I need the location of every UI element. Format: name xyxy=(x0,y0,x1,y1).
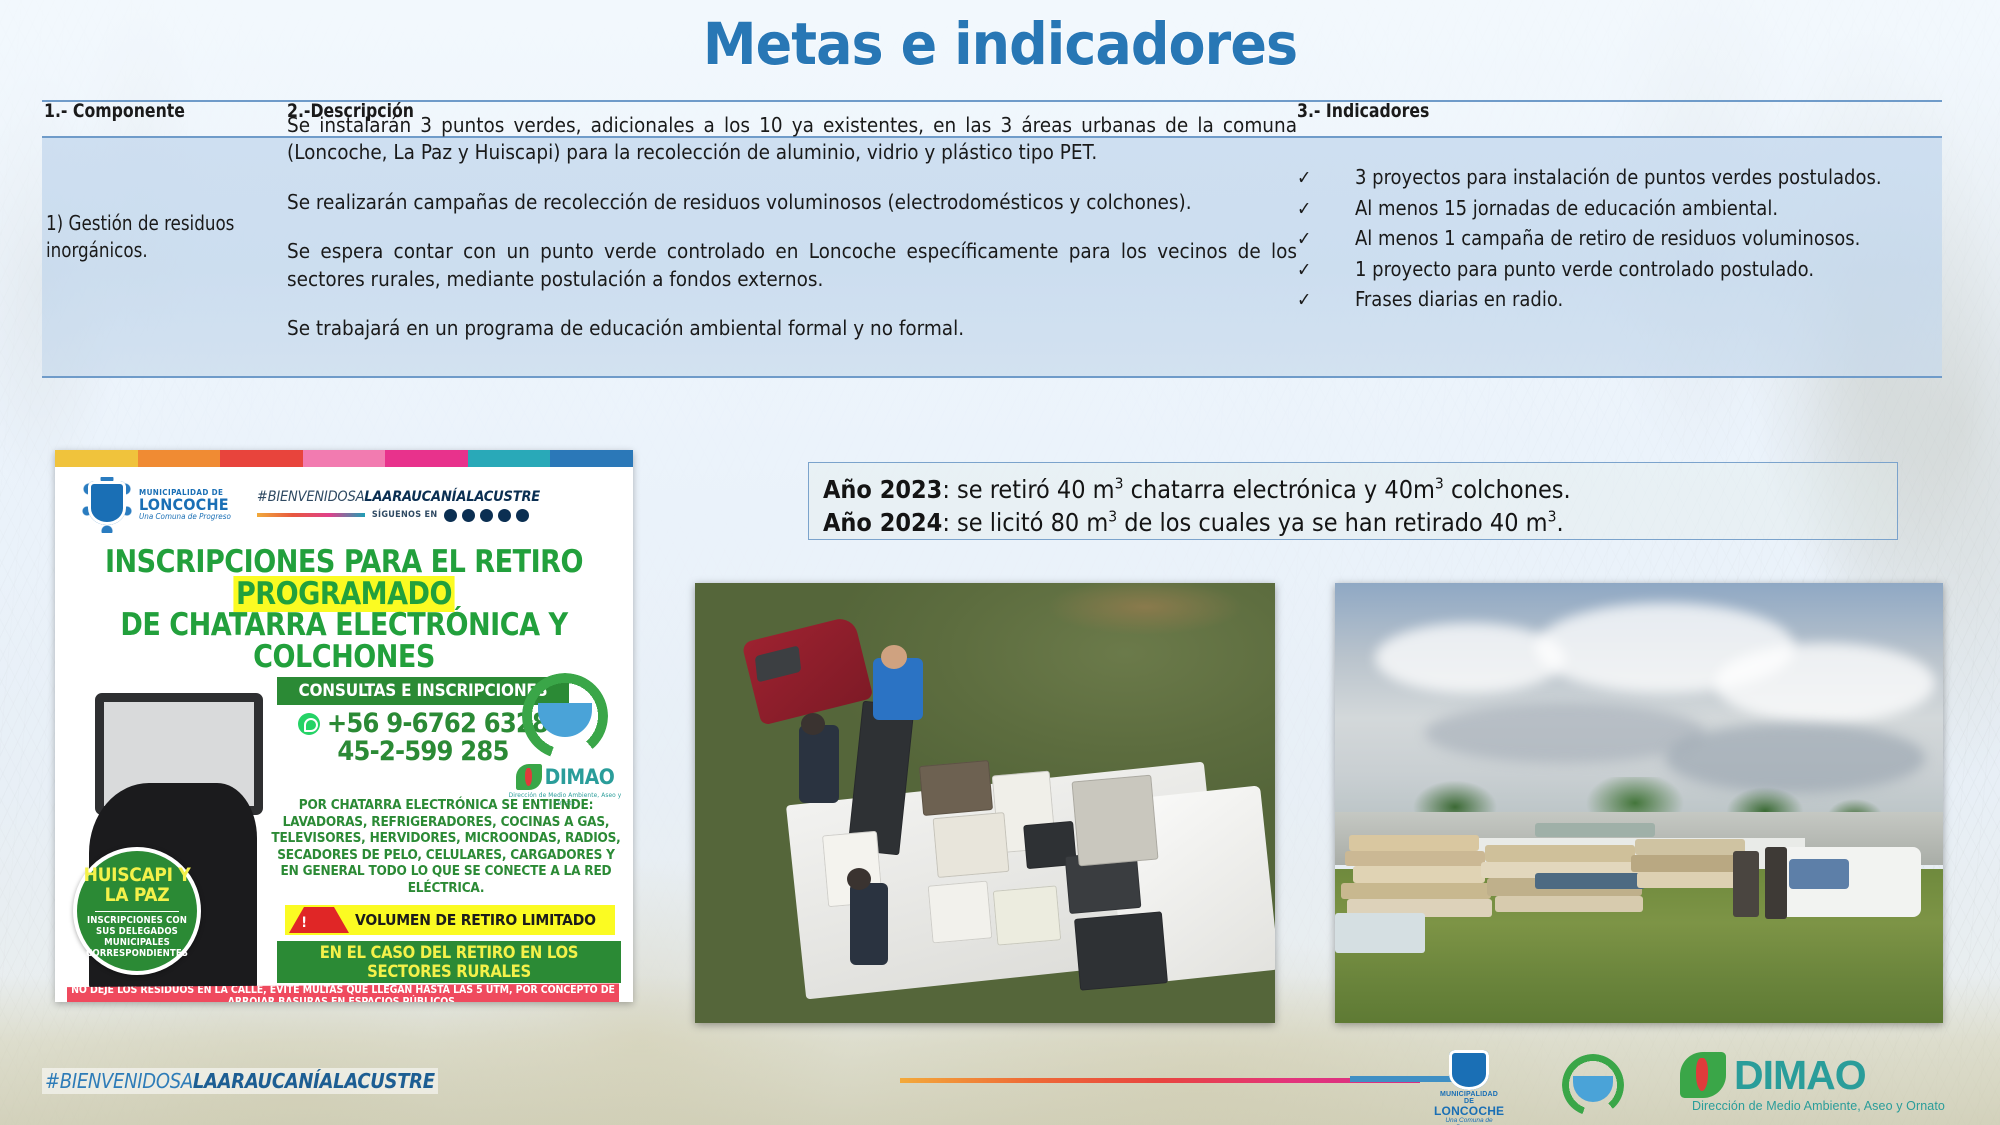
hashtag-light: #BIENVENIDOSA xyxy=(257,489,364,505)
twitter-icon xyxy=(462,509,475,522)
volumen-label: VOLUMEN DE RETIRO LIMITADO xyxy=(355,911,596,929)
indicador-label: 3 proyectos para instalación de puntos v… xyxy=(1355,162,1917,192)
photo-appliance-truck xyxy=(695,583,1275,1023)
muni-line3: Una Comuna de Progreso xyxy=(139,513,231,521)
year-2023-text-b: chatarra electrónica y 40m xyxy=(1123,475,1434,504)
muni-line2: LONCOCHE xyxy=(139,497,231,513)
footer-gobernanza-seal-icon xyxy=(1562,1052,1640,1114)
siguenos-label: SÍGUENOS EN xyxy=(372,510,438,520)
descripcion-paragraph: Se trabajará en un programa de educación… xyxy=(287,315,1297,342)
year-note-line-2023: Año 2023: se retiró 40 m3 chatarra elect… xyxy=(823,473,1883,506)
indicador-item: ✓ Al menos 15 jornadas de educación ambi… xyxy=(1297,193,1917,224)
campaign-poster: MUNICIPALIDAD DE LONCOCHE Una Comuna de … xyxy=(55,450,633,1002)
poster-title-line2: DE CHATARRA ELECTRÓNICA Y COLCHONES xyxy=(64,610,625,673)
photo-mattress-pile xyxy=(1335,583,1943,1023)
slide-canvas: Metas e indicadores 1.- Componente 2.-De… xyxy=(0,0,2000,1125)
footer-loncoche-logo: MUNICIPALIDAD DE LONCOCHE Una Comuna de … xyxy=(1434,1050,1504,1112)
year-note-line-2024: Año 2024: se licitó 80 m3 de los cuales … xyxy=(823,506,1883,539)
indicador-label: Al menos 15 jornadas de educación ambien… xyxy=(1355,193,1917,223)
indicador-item: ✓ 1 proyecto para punto verde controlado… xyxy=(1297,254,1917,285)
indicador-item: ✓ Al menos 1 campaña de retiro de residu… xyxy=(1297,223,1917,254)
year-2023-label: Año 2023 xyxy=(823,475,942,504)
instagram-icon xyxy=(444,509,457,522)
gradient-rule xyxy=(257,513,365,517)
check-icon: ✓ xyxy=(1297,256,1355,285)
metas-table: 1.- Componente 2.-Descripción 3.- Indica… xyxy=(42,100,1942,136)
descripcion-paragraph: Se espera contar con un punto verde cont… xyxy=(287,238,1297,293)
footer-muni-line2: LONCOCHE xyxy=(1434,1105,1504,1117)
dimao-leaf-icon xyxy=(1680,1052,1726,1098)
badge-divider xyxy=(95,911,179,912)
table-header-indicadores: 3.- Indicadores xyxy=(1297,100,1429,122)
indicador-label: 1 proyecto para punto verde controlado p… xyxy=(1355,254,1917,284)
footer-dimao-row: DIMAO xyxy=(1680,1052,1980,1098)
indicador-item: ✓ Frases diarias en radio. xyxy=(1297,284,1917,315)
facebook-icon xyxy=(480,509,493,522)
poster-hashtag: #BIENVENIDOSALAARAUCANÍALACUSTRE xyxy=(257,489,540,505)
poster-hashtag-block: #BIENVENIDOSALAARAUCANÍALACUSTRE SÍGUENO… xyxy=(257,489,540,522)
badge-title: HUISCAPI Y LA PAZ xyxy=(77,866,197,906)
cell-indicadores: ✓ 3 proyectos para instalación de puntos… xyxy=(1297,162,1917,315)
poster-logos-right: DIMAO Dirección de Medio Ambiente, Aseo … xyxy=(503,673,627,807)
chatarra-definition-text: POR CHATARRA ELECTRÓNICA SE ENTIENDE: LA… xyxy=(271,797,621,896)
footer-dimao-wordmark: DIMAO xyxy=(1734,1055,1866,1096)
badge-subtitle: INSCRIPCIONES CON SUS DELEGADOS MUNICIPA… xyxy=(77,916,197,960)
volumen-warning: VOLUMEN DE RETIRO LIMITADO xyxy=(285,905,615,935)
check-icon: ✓ xyxy=(1297,286,1355,315)
year-2024-label: Año 2024 xyxy=(823,508,942,537)
footer-hashtag-light: #BIENVENIDOSA xyxy=(45,1069,193,1093)
cubic-sup: 3 xyxy=(1435,475,1444,493)
poster-social-row: SÍGUENOS EN xyxy=(257,509,540,522)
poster-body: HUISCAPI Y LA PAZ INSCRIPCIONES CON SUS … xyxy=(55,673,633,1002)
whatsapp-icon xyxy=(298,713,320,735)
footer-muni-line1: MUNICIPALIDAD DE xyxy=(1434,1091,1504,1105)
indicador-label: Frases diarias en radio. xyxy=(1355,284,1917,314)
poster-title-line1-a: INSCRIPCIONES PARA EL RETIRO xyxy=(105,544,583,580)
year-2023-text-c: colchones. xyxy=(1444,475,1571,504)
year-2024-text-a: : se licitó 80 m xyxy=(942,508,1108,537)
check-icon: ✓ xyxy=(1297,195,1355,224)
cell-descripcion: Se instalarán 3 puntos verdes, adicional… xyxy=(287,112,1297,343)
gobernanza-ambiental-seal-icon xyxy=(522,673,608,759)
descripcion-paragraph: Se realizarán campañas de recolección de… xyxy=(287,189,1297,216)
indicador-item: ✓ 3 proyectos para instalación de puntos… xyxy=(1297,162,1917,193)
poster-title-line1: INSCRIPCIONES PARA EL RETIRO PROGRAMADO xyxy=(64,547,625,610)
warning-triangle-icon xyxy=(289,907,349,933)
loncoche-crest-icon xyxy=(81,477,133,533)
poster-colorbar xyxy=(55,450,633,467)
footer-gradient-rule xyxy=(900,1078,1420,1083)
year-2024-text-b: de los cuales ya se han retirado 40 m xyxy=(1117,508,1547,537)
page-title: Metas e indicadores xyxy=(70,10,1930,78)
cell-componente: 1) Gestión de residuos inorgánicos. xyxy=(46,210,246,264)
muni-wordmark: MUNICIPALIDAD DE LONCOCHE Una Comuna de … xyxy=(139,489,231,521)
footer-muni-line3: Una Comuna de Progreso xyxy=(1434,1117,1504,1125)
check-icon: ✓ xyxy=(1297,225,1355,254)
year-note-box: Año 2023: se retiró 40 m3 chatarra elect… xyxy=(808,462,1898,540)
rurales-heading: EN EL CASO DEL RETIRO EN LOS SECTORES RU… xyxy=(277,941,621,983)
year-2024-text-c: . xyxy=(1556,508,1563,537)
huiscapi-badge: HUISCAPI Y LA PAZ INSCRIPCIONES CON SUS … xyxy=(73,847,201,975)
indicador-label: Al menos 1 campaña de retiro de residuos… xyxy=(1355,223,1917,253)
cubic-sup: 3 xyxy=(1108,508,1117,526)
poster-title: INSCRIPCIONES PARA EL RETIRO PROGRAMADO … xyxy=(64,547,625,673)
footer-hashtag: #BIENVENIDOSALAARAUCANÍALACUSTRE xyxy=(42,1068,438,1094)
check-icon: ✓ xyxy=(1297,164,1355,193)
footer-dimao-subtitle: Dirección de Medio Ambiente, Aseo y Orna… xyxy=(1692,1099,1980,1113)
table-rule-bottom xyxy=(42,376,1942,378)
youtube-icon xyxy=(498,509,511,522)
descripcion-paragraph: Se instalarán 3 puntos verdes, adicional… xyxy=(287,112,1297,167)
footer-hashtag-bold: LAARAUCANÍALACUSTRE xyxy=(193,1069,435,1093)
slide-footer: #BIENVENIDOSALAARAUCANÍALACUSTRE MUNICIP… xyxy=(0,1030,2000,1125)
loncoche-crest-icon xyxy=(1449,1050,1489,1090)
dimao-leaf-icon xyxy=(516,764,542,790)
tiktok-icon xyxy=(516,509,529,522)
hashtag-bold: LAARAUCANÍALACUSTRE xyxy=(364,489,540,505)
social-icons xyxy=(444,509,529,522)
poster-header: MUNICIPALIDAD DE LONCOCHE Una Comuna de … xyxy=(55,467,633,537)
footer-dimao-logo: DIMAO Dirección de Medio Ambiente, Aseo … xyxy=(1680,1052,1980,1113)
dimao-wordmark: DIMAO xyxy=(545,765,615,789)
table-header-componente: 1.- Componente xyxy=(44,100,185,122)
year-2023-text-a: : se retiró 40 m xyxy=(942,475,1114,504)
